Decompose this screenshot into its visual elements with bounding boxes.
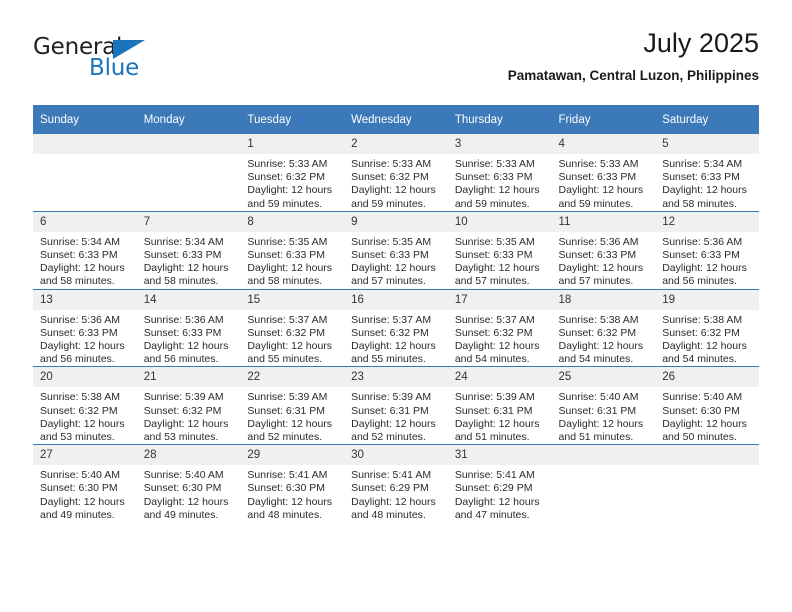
day-number: 30 — [344, 445, 448, 465]
day-details: Sunrise: 5:33 AMSunset: 6:33 PMDaylight:… — [448, 154, 552, 211]
day-number: 23 — [344, 367, 448, 387]
sunset-time: Sunset: 6:30 PM — [247, 482, 338, 495]
sunrise-time: Sunrise: 5:35 AM — [247, 236, 338, 249]
sunset-time: Sunset: 6:33 PM — [144, 327, 235, 340]
day-number: 4 — [552, 134, 656, 154]
calendar-day-cell[interactable]: 6Sunrise: 5:34 AMSunset: 6:33 PMDaylight… — [33, 211, 137, 289]
sunrise-time: Sunrise: 5:36 AM — [662, 236, 753, 249]
day-number: 2 — [344, 134, 448, 154]
day-number: 25 — [552, 367, 656, 387]
day-details: Sunrise: 5:33 AMSunset: 6:32 PMDaylight:… — [240, 154, 344, 211]
day-number: 26 — [655, 367, 759, 387]
day-details: Sunrise: 5:35 AMSunset: 6:33 PMDaylight:… — [344, 232, 448, 289]
calendar-day-cell[interactable]: 19Sunrise: 5:38 AMSunset: 6:32 PMDayligh… — [655, 289, 759, 367]
calendar-day-cell[interactable]: 24Sunrise: 5:39 AMSunset: 6:31 PMDayligh… — [448, 367, 552, 445]
weekday-header-saturday: Saturday — [655, 105, 759, 134]
daylight-duration: Daylight: 12 hours and 56 minutes. — [662, 262, 753, 288]
calendar-day-cell[interactable]: 5Sunrise: 5:34 AMSunset: 6:33 PMDaylight… — [655, 134, 759, 211]
calendar-day-cell[interactable]: 17Sunrise: 5:37 AMSunset: 6:32 PMDayligh… — [448, 289, 552, 367]
sunrise-sunset-calendar: Sunday Monday Tuesday Wednesday Thursday… — [33, 105, 759, 522]
day-details: Sunrise: 5:39 AMSunset: 6:31 PMDaylight:… — [240, 387, 344, 444]
day-number: 6 — [33, 212, 137, 232]
sunrise-time: Sunrise: 5:37 AM — [247, 314, 338, 327]
calendar-day-cell[interactable]: 29Sunrise: 5:41 AMSunset: 6:30 PMDayligh… — [240, 445, 344, 522]
day-number: 10 — [448, 212, 552, 232]
sunset-time: Sunset: 6:33 PM — [455, 171, 546, 184]
day-details: Sunrise: 5:39 AMSunset: 6:32 PMDaylight:… — [137, 387, 241, 444]
calendar-day-cell[interactable]: 31Sunrise: 5:41 AMSunset: 6:29 PMDayligh… — [448, 445, 552, 522]
sunset-time: Sunset: 6:31 PM — [455, 405, 546, 418]
calendar-day-cell[interactable]: 26Sunrise: 5:40 AMSunset: 6:30 PMDayligh… — [655, 367, 759, 445]
sunrise-time: Sunrise: 5:33 AM — [559, 158, 650, 171]
calendar-week-row: 27Sunrise: 5:40 AMSunset: 6:30 PMDayligh… — [33, 445, 759, 522]
day-number: 17 — [448, 290, 552, 310]
calendar-week-row: 13Sunrise: 5:36 AMSunset: 6:33 PMDayligh… — [33, 289, 759, 367]
daylight-duration: Daylight: 12 hours and 59 minutes. — [455, 184, 546, 210]
calendar-day-cell[interactable]: 12Sunrise: 5:36 AMSunset: 6:33 PMDayligh… — [655, 211, 759, 289]
daylight-duration: Daylight: 12 hours and 53 minutes. — [40, 418, 131, 444]
sunrise-time: Sunrise: 5:33 AM — [247, 158, 338, 171]
day-details: Sunrise: 5:37 AMSunset: 6:32 PMDaylight:… — [240, 310, 344, 367]
daylight-duration: Daylight: 12 hours and 55 minutes. — [351, 340, 442, 366]
page-title: July 2025 — [508, 26, 759, 60]
sunset-time: Sunset: 6:32 PM — [144, 405, 235, 418]
calendar-day-cell[interactable]: 9Sunrise: 5:35 AMSunset: 6:33 PMDaylight… — [344, 211, 448, 289]
day-number: 11 — [552, 212, 656, 232]
daylight-duration: Daylight: 12 hours and 54 minutes. — [662, 340, 753, 366]
day-number: 22 — [240, 367, 344, 387]
sunrise-time: Sunrise: 5:36 AM — [144, 314, 235, 327]
day-details: Sunrise: 5:40 AMSunset: 6:31 PMDaylight:… — [552, 387, 656, 444]
day-number: 16 — [344, 290, 448, 310]
daylight-duration: Daylight: 12 hours and 51 minutes. — [559, 418, 650, 444]
day-number: 7 — [137, 212, 241, 232]
sunset-time: Sunset: 6:33 PM — [559, 249, 650, 262]
daylight-duration: Daylight: 12 hours and 59 minutes. — [559, 184, 650, 210]
calendar-page: General Blue July 2025 Pamatawan, Centra… — [0, 0, 792, 612]
sunrise-time: Sunrise: 5:37 AM — [455, 314, 546, 327]
day-number: 3 — [448, 134, 552, 154]
day-details: Sunrise: 5:35 AMSunset: 6:33 PMDaylight:… — [448, 232, 552, 289]
day-details: Sunrise: 5:34 AMSunset: 6:33 PMDaylight:… — [137, 232, 241, 289]
daylight-duration: Daylight: 12 hours and 48 minutes. — [351, 496, 442, 522]
daylight-duration: Daylight: 12 hours and 48 minutes. — [247, 496, 338, 522]
weekday-header-sunday: Sunday — [33, 105, 137, 134]
calendar-day-cell[interactable]: 13Sunrise: 5:36 AMSunset: 6:33 PMDayligh… — [33, 289, 137, 367]
day-details: Sunrise: 5:41 AMSunset: 6:29 PMDaylight:… — [448, 465, 552, 522]
weekday-header-friday: Friday — [552, 105, 656, 134]
daylight-duration: Daylight: 12 hours and 54 minutes. — [455, 340, 546, 366]
calendar-day-cell-empty — [137, 134, 241, 211]
day-number: 1 — [240, 134, 344, 154]
day-details: Sunrise: 5:40 AMSunset: 6:30 PMDaylight:… — [137, 465, 241, 522]
day-number — [33, 134, 137, 154]
sunset-time: Sunset: 6:32 PM — [247, 171, 338, 184]
sunset-time: Sunset: 6:33 PM — [351, 249, 442, 262]
page-subtitle: Pamatawan, Central Luzon, Philippines — [508, 66, 759, 86]
sunrise-time: Sunrise: 5:40 AM — [144, 469, 235, 482]
daylight-duration: Daylight: 12 hours and 49 minutes. — [40, 496, 131, 522]
calendar-day-cell-empty — [655, 445, 759, 522]
day-details: Sunrise: 5:38 AMSunset: 6:32 PMDaylight:… — [655, 310, 759, 367]
day-details: Sunrise: 5:41 AMSunset: 6:29 PMDaylight:… — [344, 465, 448, 522]
calendar-day-cell[interactable]: 27Sunrise: 5:40 AMSunset: 6:30 PMDayligh… — [33, 445, 137, 522]
daylight-duration: Daylight: 12 hours and 59 minutes. — [351, 184, 442, 210]
sunset-time: Sunset: 6:32 PM — [559, 327, 650, 340]
calendar-week-row: 6Sunrise: 5:34 AMSunset: 6:33 PMDaylight… — [33, 211, 759, 289]
day-number: 8 — [240, 212, 344, 232]
day-number: 9 — [344, 212, 448, 232]
day-number: 31 — [448, 445, 552, 465]
calendar-day-cell[interactable]: 21Sunrise: 5:39 AMSunset: 6:32 PMDayligh… — [137, 367, 241, 445]
daylight-duration: Daylight: 12 hours and 49 minutes. — [144, 496, 235, 522]
daylight-duration: Daylight: 12 hours and 52 minutes. — [351, 418, 442, 444]
daylight-duration: Daylight: 12 hours and 47 minutes. — [455, 496, 546, 522]
day-details: Sunrise: 5:38 AMSunset: 6:32 PMDaylight:… — [33, 387, 137, 444]
daylight-duration: Daylight: 12 hours and 52 minutes. — [247, 418, 338, 444]
day-details: Sunrise: 5:38 AMSunset: 6:32 PMDaylight:… — [552, 310, 656, 367]
calendar-day-cell[interactable]: 7Sunrise: 5:34 AMSunset: 6:33 PMDaylight… — [137, 211, 241, 289]
sunset-time: Sunset: 6:33 PM — [40, 249, 131, 262]
sunrise-time: Sunrise: 5:35 AM — [351, 236, 442, 249]
sunrise-time: Sunrise: 5:33 AM — [351, 158, 442, 171]
sunrise-time: Sunrise: 5:36 AM — [40, 314, 131, 327]
daylight-duration: Daylight: 12 hours and 58 minutes. — [662, 184, 753, 210]
day-details: Sunrise: 5:37 AMSunset: 6:32 PMDaylight:… — [448, 310, 552, 367]
day-details: Sunrise: 5:36 AMSunset: 6:33 PMDaylight:… — [655, 232, 759, 289]
daylight-duration: Daylight: 12 hours and 50 minutes. — [662, 418, 753, 444]
sunset-time: Sunset: 6:31 PM — [247, 405, 338, 418]
sunrise-time: Sunrise: 5:39 AM — [351, 391, 442, 404]
day-details: Sunrise: 5:33 AMSunset: 6:33 PMDaylight:… — [552, 154, 656, 211]
sunset-time: Sunset: 6:32 PM — [40, 405, 131, 418]
daylight-duration: Daylight: 12 hours and 56 minutes. — [144, 340, 235, 366]
day-number: 14 — [137, 290, 241, 310]
daylight-duration: Daylight: 12 hours and 58 minutes. — [144, 262, 235, 288]
calendar-day-cell[interactable]: 4Sunrise: 5:33 AMSunset: 6:33 PMDaylight… — [552, 134, 656, 211]
page-header: General Blue July 2025 Pamatawan, Centra… — [33, 26, 759, 98]
sunrise-time: Sunrise: 5:34 AM — [144, 236, 235, 249]
calendar-week-row: 1Sunrise: 5:33 AMSunset: 6:32 PMDaylight… — [33, 134, 759, 211]
daylight-duration: Daylight: 12 hours and 58 minutes. — [247, 262, 338, 288]
weekday-header-monday: Monday — [137, 105, 241, 134]
title-block: July 2025 Pamatawan, Central Luzon, Phil… — [508, 26, 759, 86]
calendar-day-cell[interactable]: 18Sunrise: 5:38 AMSunset: 6:32 PMDayligh… — [552, 289, 656, 367]
calendar-day-cell[interactable]: 16Sunrise: 5:37 AMSunset: 6:32 PMDayligh… — [344, 289, 448, 367]
daylight-duration: Daylight: 12 hours and 58 minutes. — [40, 262, 131, 288]
sunrise-time: Sunrise: 5:39 AM — [247, 391, 338, 404]
day-details: Sunrise: 5:36 AMSunset: 6:33 PMDaylight:… — [552, 232, 656, 289]
calendar-day-cell[interactable]: 20Sunrise: 5:38 AMSunset: 6:32 PMDayligh… — [33, 367, 137, 445]
sunset-time: Sunset: 6:30 PM — [40, 482, 131, 495]
daylight-duration: Daylight: 12 hours and 57 minutes. — [559, 262, 650, 288]
calendar-day-cell[interactable]: 14Sunrise: 5:36 AMSunset: 6:33 PMDayligh… — [137, 289, 241, 367]
calendar-body: 1Sunrise: 5:33 AMSunset: 6:32 PMDaylight… — [33, 134, 759, 522]
day-details: Sunrise: 5:34 AMSunset: 6:33 PMDaylight:… — [655, 154, 759, 211]
day-number: 20 — [33, 367, 137, 387]
day-details: Sunrise: 5:40 AMSunset: 6:30 PMDaylight:… — [33, 465, 137, 522]
sunset-time: Sunset: 6:33 PM — [144, 249, 235, 262]
sunset-time: Sunset: 6:32 PM — [662, 327, 753, 340]
sunrise-time: Sunrise: 5:38 AM — [40, 391, 131, 404]
day-details: Sunrise: 5:36 AMSunset: 6:33 PMDaylight:… — [137, 310, 241, 367]
calendar-day-cell[interactable]: 2Sunrise: 5:33 AMSunset: 6:32 PMDaylight… — [344, 134, 448, 211]
day-number: 5 — [655, 134, 759, 154]
day-number: 18 — [552, 290, 656, 310]
weekday-header-wednesday: Wednesday — [344, 105, 448, 134]
sunset-time: Sunset: 6:33 PM — [559, 171, 650, 184]
day-number: 19 — [655, 290, 759, 310]
weekday-header-row: Sunday Monday Tuesday Wednesday Thursday… — [33, 105, 759, 134]
sunset-time: Sunset: 6:32 PM — [247, 327, 338, 340]
day-details: Sunrise: 5:34 AMSunset: 6:33 PMDaylight:… — [33, 232, 137, 289]
sunrise-time: Sunrise: 5:34 AM — [40, 236, 131, 249]
sunset-time: Sunset: 6:29 PM — [455, 482, 546, 495]
day-number: 13 — [33, 290, 137, 310]
calendar-day-cell[interactable]: 15Sunrise: 5:37 AMSunset: 6:32 PMDayligh… — [240, 289, 344, 367]
day-number: 28 — [137, 445, 241, 465]
sunset-time: Sunset: 6:32 PM — [351, 327, 442, 340]
calendar-day-cell-empty — [33, 134, 137, 211]
calendar-day-cell[interactable]: 1Sunrise: 5:33 AMSunset: 6:32 PMDaylight… — [240, 134, 344, 211]
day-details: Sunrise: 5:35 AMSunset: 6:33 PMDaylight:… — [240, 232, 344, 289]
calendar-day-cell-empty — [552, 445, 656, 522]
logo-text-blue: Blue — [89, 55, 139, 81]
day-details: Sunrise: 5:39 AMSunset: 6:31 PMDaylight:… — [344, 387, 448, 444]
day-details: Sunrise: 5:40 AMSunset: 6:30 PMDaylight:… — [655, 387, 759, 444]
sunset-time: Sunset: 6:31 PM — [351, 405, 442, 418]
sunrise-time: Sunrise: 5:41 AM — [247, 469, 338, 482]
calendar-day-cell[interactable]: 30Sunrise: 5:41 AMSunset: 6:29 PMDayligh… — [344, 445, 448, 522]
calendar-day-cell[interactable]: 23Sunrise: 5:39 AMSunset: 6:31 PMDayligh… — [344, 367, 448, 445]
sunrise-time: Sunrise: 5:39 AM — [144, 391, 235, 404]
sunset-time: Sunset: 6:33 PM — [662, 171, 753, 184]
day-number — [552, 445, 656, 465]
day-number — [655, 445, 759, 465]
sunrise-time: Sunrise: 5:38 AM — [559, 314, 650, 327]
sunset-time: Sunset: 6:29 PM — [351, 482, 442, 495]
day-number — [137, 134, 241, 154]
day-number: 15 — [240, 290, 344, 310]
sunset-time: Sunset: 6:32 PM — [455, 327, 546, 340]
day-number: 21 — [137, 367, 241, 387]
sunrise-time: Sunrise: 5:37 AM — [351, 314, 442, 327]
sunset-time: Sunset: 6:30 PM — [662, 405, 753, 418]
day-number: 12 — [655, 212, 759, 232]
daylight-duration: Daylight: 12 hours and 56 minutes. — [40, 340, 131, 366]
sunrise-time: Sunrise: 5:40 AM — [40, 469, 131, 482]
day-number: 27 — [33, 445, 137, 465]
day-number: 29 — [240, 445, 344, 465]
daylight-duration: Daylight: 12 hours and 54 minutes. — [559, 340, 650, 366]
day-number: 24 — [448, 367, 552, 387]
sunrise-time: Sunrise: 5:41 AM — [455, 469, 546, 482]
calendar-day-cell[interactable]: 25Sunrise: 5:40 AMSunset: 6:31 PMDayligh… — [552, 367, 656, 445]
sunrise-time: Sunrise: 5:40 AM — [559, 391, 650, 404]
calendar-day-cell[interactable]: 28Sunrise: 5:40 AMSunset: 6:30 PMDayligh… — [137, 445, 241, 522]
sunrise-time: Sunrise: 5:36 AM — [559, 236, 650, 249]
sunset-time: Sunset: 6:33 PM — [662, 249, 753, 262]
sunrise-time: Sunrise: 5:35 AM — [455, 236, 546, 249]
daylight-duration: Daylight: 12 hours and 59 minutes. — [247, 184, 338, 210]
day-details: Sunrise: 5:36 AMSunset: 6:33 PMDaylight:… — [33, 310, 137, 367]
sunset-time: Sunset: 6:33 PM — [40, 327, 131, 340]
calendar-week-row: 20Sunrise: 5:38 AMSunset: 6:32 PMDayligh… — [33, 367, 759, 445]
sunset-time: Sunset: 6:33 PM — [455, 249, 546, 262]
calendar-day-cell[interactable]: 11Sunrise: 5:36 AMSunset: 6:33 PMDayligh… — [552, 211, 656, 289]
daylight-duration: Daylight: 12 hours and 53 minutes. — [144, 418, 235, 444]
sunset-time: Sunset: 6:33 PM — [247, 249, 338, 262]
daylight-duration: Daylight: 12 hours and 57 minutes. — [455, 262, 546, 288]
calendar-day-cell[interactable]: 3Sunrise: 5:33 AMSunset: 6:33 PMDaylight… — [448, 134, 552, 211]
day-details: Sunrise: 5:41 AMSunset: 6:30 PMDaylight:… — [240, 465, 344, 522]
sunrise-time: Sunrise: 5:33 AM — [455, 158, 546, 171]
day-details: Sunrise: 5:33 AMSunset: 6:32 PMDaylight:… — [344, 154, 448, 211]
daylight-duration: Daylight: 12 hours and 51 minutes. — [455, 418, 546, 444]
sunset-time: Sunset: 6:30 PM — [144, 482, 235, 495]
calendar-day-cell[interactable]: 22Sunrise: 5:39 AMSunset: 6:31 PMDayligh… — [240, 367, 344, 445]
general-blue-logo[interactable]: General Blue — [33, 34, 163, 90]
sunrise-time: Sunrise: 5:39 AM — [455, 391, 546, 404]
daylight-duration: Daylight: 12 hours and 55 minutes. — [247, 340, 338, 366]
sunrise-time: Sunrise: 5:34 AM — [662, 158, 753, 171]
day-details: Sunrise: 5:39 AMSunset: 6:31 PMDaylight:… — [448, 387, 552, 444]
sunset-time: Sunset: 6:31 PM — [559, 405, 650, 418]
weekday-header-thursday: Thursday — [448, 105, 552, 134]
weekday-header-tuesday: Tuesday — [240, 105, 344, 134]
sunrise-time: Sunrise: 5:38 AM — [662, 314, 753, 327]
calendar-day-cell[interactable]: 8Sunrise: 5:35 AMSunset: 6:33 PMDaylight… — [240, 211, 344, 289]
sunrise-time: Sunrise: 5:41 AM — [351, 469, 442, 482]
sunrise-time: Sunrise: 5:40 AM — [662, 391, 753, 404]
calendar-day-cell[interactable]: 10Sunrise: 5:35 AMSunset: 6:33 PMDayligh… — [448, 211, 552, 289]
day-details: Sunrise: 5:37 AMSunset: 6:32 PMDaylight:… — [344, 310, 448, 367]
daylight-duration: Daylight: 12 hours and 57 minutes. — [351, 262, 442, 288]
sunset-time: Sunset: 6:32 PM — [351, 171, 442, 184]
